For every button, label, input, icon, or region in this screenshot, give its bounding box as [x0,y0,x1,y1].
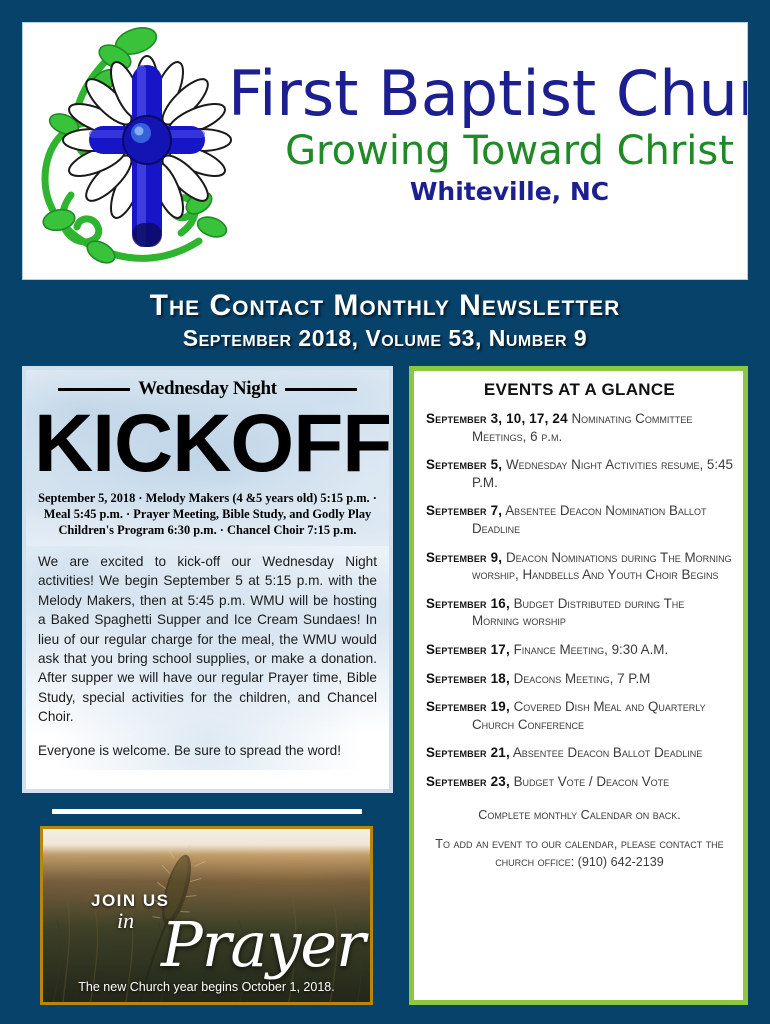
event-date: September 18, [426,671,510,686]
event-item: September 9, Deacon Nominations during T… [426,549,733,584]
event-item: September 21, Absentee Deacon Ballot Dea… [426,744,733,762]
prayer-in-text: in [117,909,134,933]
kickoff-eyebrow-row: Wednesday Night [38,378,377,400]
church-cross-logo-icon [31,27,241,277]
newsletter-title: The Contact Monthly Newsletter [0,288,770,324]
rule-right [285,388,357,391]
event-item: September 16, Budget Distributed during … [426,595,733,630]
prayer-caption: The new Church year begins October 1, 20… [43,979,370,995]
kickoff-body: We are excited to kick-off our Wednesday… [26,546,389,770]
events-note-contact: To add an event to our calendar, please … [426,836,733,871]
event-date: September 3, 10, 17, 24 [426,411,568,426]
newsletter-issue-line: September 2018, Volume 53, Number 9 [0,324,770,352]
kickoff-schedule-details: September 5, 2018 · Melody Makers (4 &5 … [34,490,381,538]
events-list: September 3, 10, 17, 24 Nominating Commi… [426,410,733,791]
church-tagline: Growing Toward Christ [228,129,743,173]
event-item: September 3, 10, 17, 24 Nominating Commi… [426,410,733,445]
event-item: September 18, Deacons Meeting, 7 P.M [426,670,733,688]
kickoff-paragraph-2: Everyone is welcome. Be sure to spread t… [38,741,377,760]
event-description: Deacon Nominations during The Morning wo… [472,550,732,583]
event-date: September 21, [426,745,510,760]
event-date: September 17, [426,642,510,657]
prayer-photo-background: JOIN US in Prayer The new Church year be… [43,829,370,1002]
event-description: Finance Meeting, 9:30 A.M. [510,642,668,657]
event-date: September 23, [426,774,510,789]
event-date: September 5, [426,457,502,472]
prayer-word-text: Prayer [161,913,365,977]
event-date: September 16, [426,596,510,611]
rule-left [58,388,130,391]
event-description: Absentee Deacon Ballot Deadline [510,745,702,760]
event-item: September 5, Wednesday Night Activities … [426,456,733,491]
event-item: September 7, Absentee Deacon Nomination … [426,502,733,537]
logo-banner: First Baptist Church Growing Toward Chri… [22,22,748,280]
event-description: Wednesday Night Activities resume, 5:45 … [472,457,733,490]
join-us-in-prayer-image: JOIN US in Prayer The new Church year be… [40,826,373,1005]
event-description: Absentee Deacon Nomination Ballot Deadli… [472,503,706,536]
event-date: September 19, [426,699,510,714]
event-description: Deacons Meeting, 7 P.M [510,671,650,686]
event-item: September 23, Budget Vote / Deacon Vote [426,773,733,791]
event-item: September 17, Finance Meeting, 9:30 A.M. [426,641,733,659]
kickoff-flyer: Wednesday Night KICKOFF September 5, 201… [26,370,389,546]
church-name: First Baptist Church [228,61,743,127]
kickoff-paragraph-1: We are excited to kick-off our Wednesday… [38,552,377,727]
church-city: Whiteville, NC [228,177,743,207]
event-description: Budget Vote / Deacon Vote [510,774,669,789]
section-divider [52,809,362,814]
kickoff-panel: Wednesday Night KICKOFF September 5, 201… [22,366,393,793]
event-date: September 9, [426,550,502,565]
kickoff-headline: KICKOFF [34,402,381,486]
events-at-a-glance-panel: EVENTS AT A GLANCE September 3, 10, 17, … [409,366,748,1005]
newsletter-title-block: The Contact Monthly Newsletter September… [0,288,770,352]
event-date: September 7, [426,503,502,518]
event-item: September 19, Covered Dish Meal and Quar… [426,698,733,733]
events-note-calendar: Complete monthly Calendar on back. [426,807,733,825]
kickoff-eyebrow: Wednesday Night [138,378,277,400]
events-panel-heading: EVENTS AT A GLANCE [426,379,733,401]
